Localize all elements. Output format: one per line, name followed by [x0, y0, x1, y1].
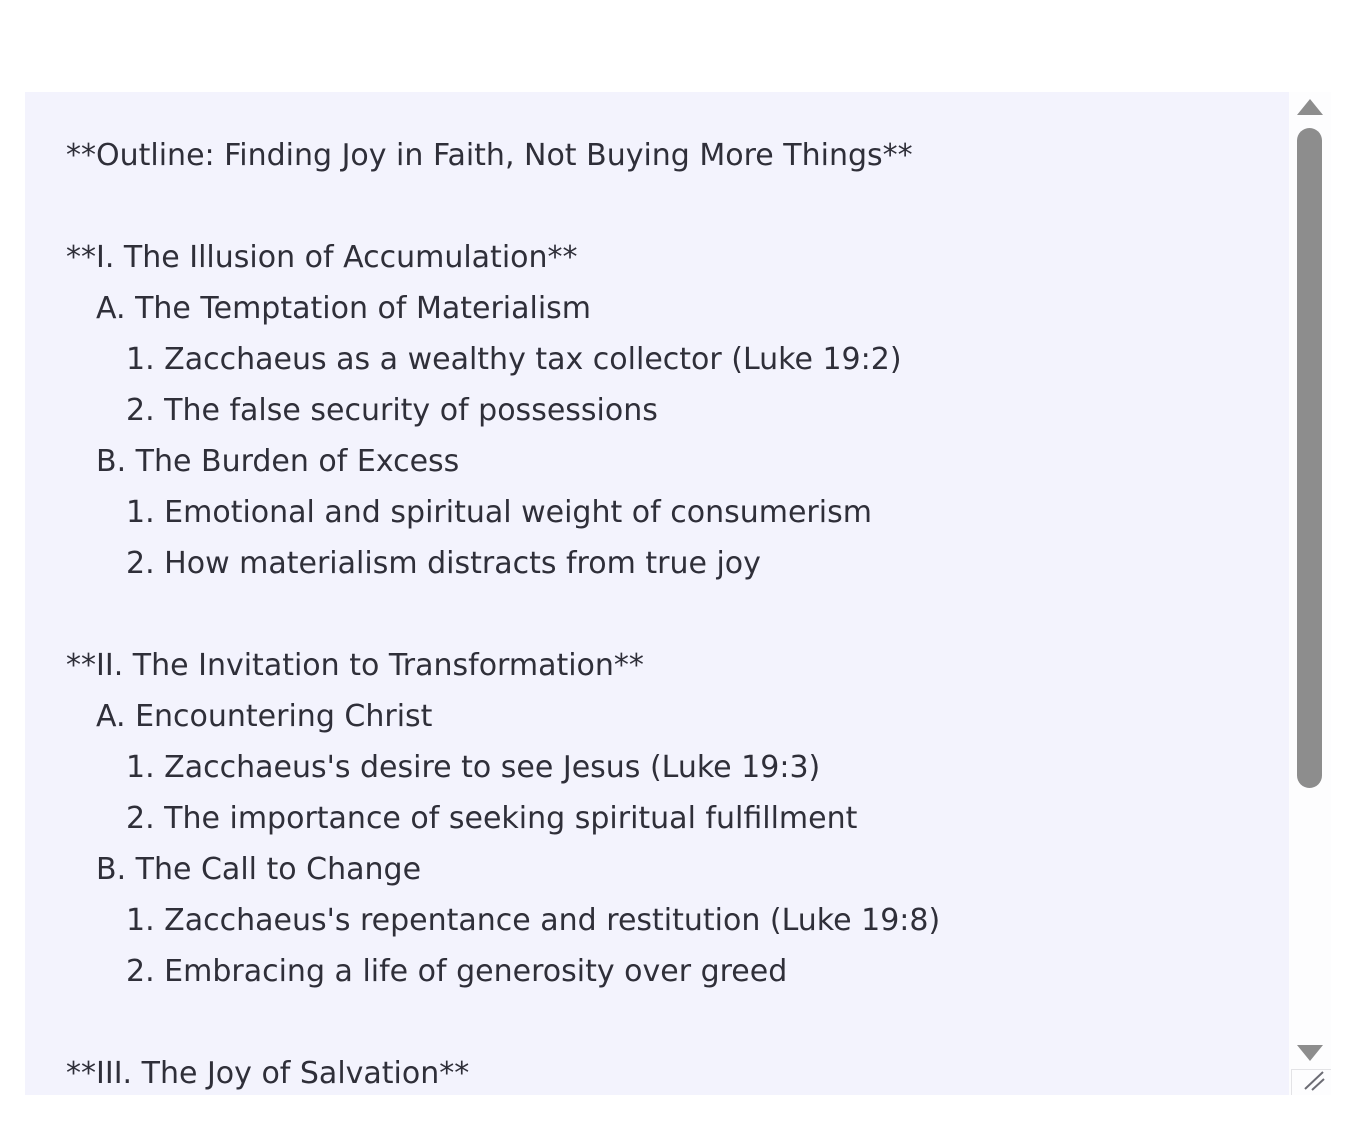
resize-grip-handle[interactable] [1291, 1069, 1331, 1095]
vertical-scrollbar[interactable] [1288, 92, 1331, 1095]
outline-line: 2. How materialism distracts from true j… [66, 538, 1288, 589]
outline-line: 2. The false security of possessions [66, 385, 1288, 436]
outline-text-content[interactable]: **Outline: Finding Joy in Faith, Not Buy… [25, 92, 1288, 1095]
resize-grip-icon [1303, 1070, 1327, 1092]
outline-line: B. The Burden of Excess [66, 436, 1288, 487]
outline-blank-line [66, 589, 1288, 640]
outline-blank-line [66, 181, 1288, 232]
outline-line: 2. The importance of seeking spiritual f… [66, 793, 1288, 844]
outline-blank-line [66, 997, 1288, 1048]
outline-textarea[interactable]: **Outline: Finding Joy in Faith, Not Buy… [25, 92, 1331, 1095]
outline-line: **III. The Joy of Salvation** [66, 1048, 1288, 1095]
outline-line: **I. The Illusion of Accumulation** [66, 232, 1288, 283]
outline-line: 1. Zacchaeus as a wealthy tax collector … [66, 334, 1288, 385]
triangle-up-icon [1297, 99, 1323, 115]
outline-line: 1. Zacchaeus's desire to see Jesus (Luke… [66, 742, 1288, 793]
outline-line: 2. Embracing a life of generosity over g… [66, 946, 1288, 997]
outline-line: 1. Zacchaeus's repentance and restitutio… [66, 895, 1288, 946]
outline-line: **Outline: Finding Joy in Faith, Not Buy… [66, 130, 1288, 181]
triangle-down-icon [1297, 1045, 1323, 1061]
outline-line: B. The Call to Change [66, 844, 1288, 895]
scrollbar-up-button[interactable] [1289, 92, 1331, 122]
outline-line: A. The Temptation of Materialism [66, 283, 1288, 334]
scrollbar-thumb[interactable] [1297, 128, 1322, 788]
outline-line: A. Encountering Christ [66, 691, 1288, 742]
outline-line: **II. The Invitation to Transformation** [66, 640, 1288, 691]
scrollbar-down-button[interactable] [1289, 1038, 1331, 1068]
outline-line: 1. Emotional and spiritual weight of con… [66, 487, 1288, 538]
